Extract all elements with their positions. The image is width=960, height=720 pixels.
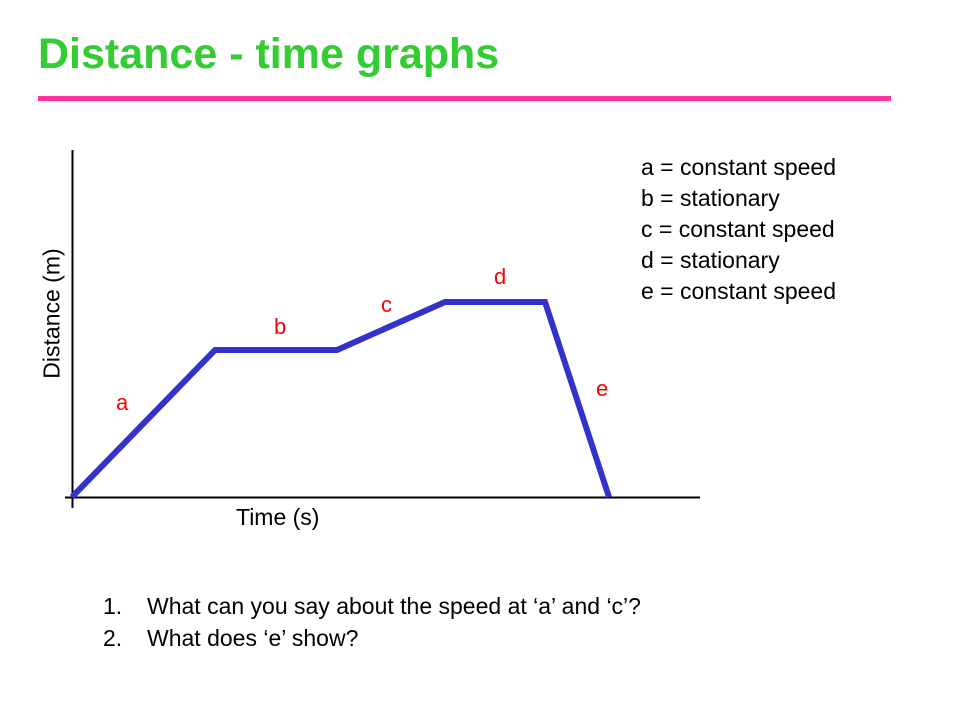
question-number-1: 1.: [103, 590, 147, 622]
title-underline-rule: [38, 96, 891, 101]
legend-item-a: a = constant speed: [641, 152, 941, 183]
x-axis-label: Time (s): [236, 504, 319, 531]
chart-plot-svg: [0, 130, 720, 530]
page-title: Distance - time graphs: [38, 33, 499, 76]
y-axis-label: Distance (m): [39, 234, 66, 394]
question-list: 1. What can you say about the speed at ‘…: [103, 590, 883, 654]
question-text-2: What does ‘e’ show?: [147, 622, 358, 654]
segment-label-b: b: [274, 316, 286, 338]
distance-time-chart: Distance (m) Time (s) a b c d e: [0, 130, 720, 560]
legend-list: a = constant speed b = stationary c = co…: [641, 152, 941, 307]
question-item-1: 1. What can you say about the speed at ‘…: [103, 590, 883, 622]
segment-label-a: a: [116, 392, 128, 414]
segment-label-c: c: [381, 294, 392, 316]
legend-item-b: b = stationary: [641, 183, 941, 214]
question-item-2: 2. What does ‘e’ show?: [103, 622, 883, 654]
distance-time-line: [72, 302, 609, 497]
question-text-1: What can you say about the speed at ‘a’ …: [147, 590, 641, 622]
segment-label-e: e: [596, 378, 608, 400]
question-number-2: 2.: [103, 622, 147, 654]
legend-item-e: e = constant speed: [641, 276, 941, 307]
segment-label-d: d: [494, 266, 506, 288]
legend-item-d: d = stationary: [641, 245, 941, 276]
legend-item-c: c = constant speed: [641, 214, 941, 245]
